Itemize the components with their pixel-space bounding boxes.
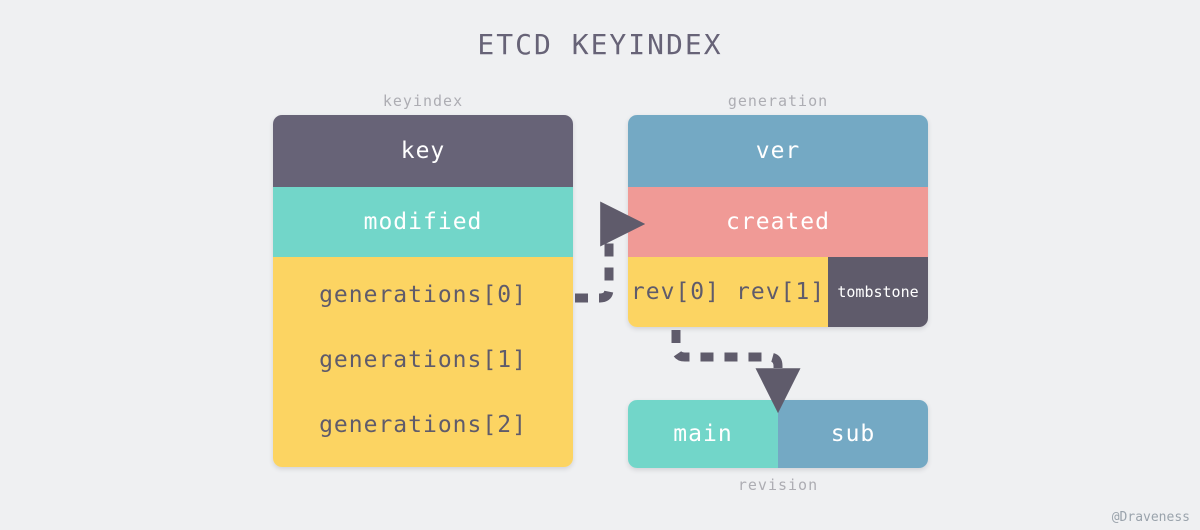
generation-field-ver: ver	[628, 115, 928, 187]
generation-field-revs-row: rev[0] rev[1] tombstone	[628, 257, 928, 327]
generation-field-revs: rev[0] rev[1]	[628, 257, 828, 327]
keyindex-field-modified: modified	[273, 187, 573, 257]
revision-card: main sub	[628, 400, 928, 468]
keyindex-card: key modified generations[0] generations[…	[273, 115, 573, 467]
caption-generation: generation	[628, 92, 928, 110]
generations-item-0: generations[0]	[319, 282, 527, 308]
arrow-rev-to-revision	[676, 330, 778, 388]
generation-card: ver created rev[0] rev[1] tombstone	[628, 115, 928, 327]
generations-item-2: generations[2]	[319, 412, 527, 438]
rev-item-1: rev[1]	[736, 279, 825, 305]
watermark: @Draveness	[1112, 510, 1190, 525]
diagram-canvas: ETCD KEYINDEX keyindex generation revisi…	[0, 0, 1200, 530]
keyindex-field-generations: generations[0] generations[1] generation…	[273, 257, 573, 467]
arrow-generations-to-generation	[575, 224, 620, 298]
connector-arrows	[0, 0, 1200, 530]
revision-field-main: main	[628, 400, 778, 468]
keyindex-field-key: key	[273, 115, 573, 187]
rev-item-0: rev[0]	[631, 279, 720, 305]
page-title: ETCD KEYINDEX	[0, 28, 1200, 61]
generation-field-tombstone: tombstone	[828, 257, 928, 327]
revision-field-sub: sub	[778, 400, 928, 468]
caption-revision: revision	[628, 476, 928, 494]
generations-item-1: generations[1]	[319, 347, 527, 373]
caption-keyindex: keyindex	[273, 92, 573, 110]
generation-field-created: created	[628, 187, 928, 257]
